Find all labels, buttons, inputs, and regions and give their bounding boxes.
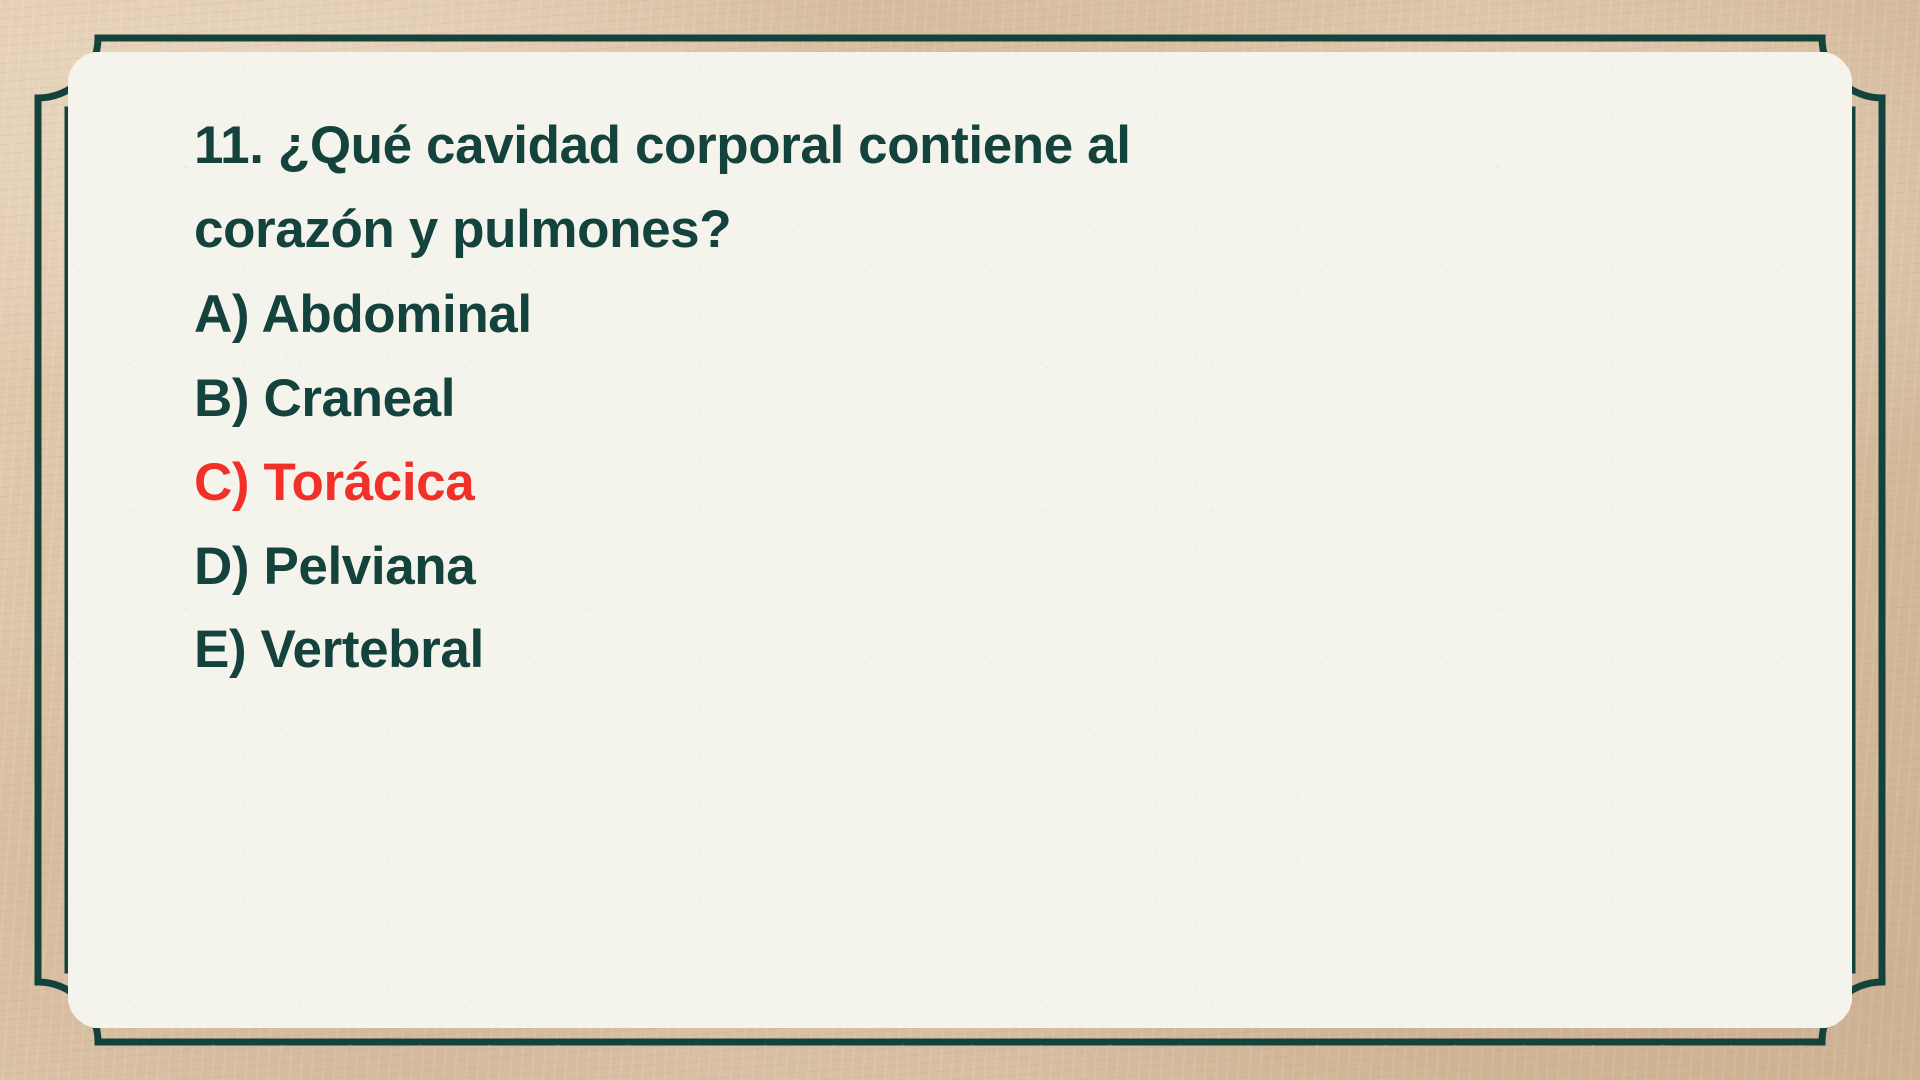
answer-option-e[interactable]: E) Vertebral <box>194 608 1780 692</box>
card-content: 11. ¿Qué cavidad corporal contiene alcor… <box>194 104 1780 692</box>
question-line-1: 11. ¿Qué cavidad corporal contiene al <box>194 116 1131 175</box>
answer-option-b[interactable]: B) Craneal <box>194 357 1780 441</box>
answer-option-c[interactable]: C) Torácica <box>194 441 1780 525</box>
quiz-card-slide: 11. ¿Qué cavidad corporal contiene alcor… <box>0 0 1920 1080</box>
answer-option-a[interactable]: A) Abdominal <box>194 273 1780 357</box>
answer-options-list: A) Abdominal B) Craneal C) Torácica D) P… <box>194 273 1780 692</box>
question-line-2: corazón y pulmones? <box>194 188 1780 272</box>
answer-option-d[interactable]: D) Pelviana <box>194 525 1780 609</box>
question-text: 11. ¿Qué cavidad corporal contiene alcor… <box>194 104 1780 271</box>
